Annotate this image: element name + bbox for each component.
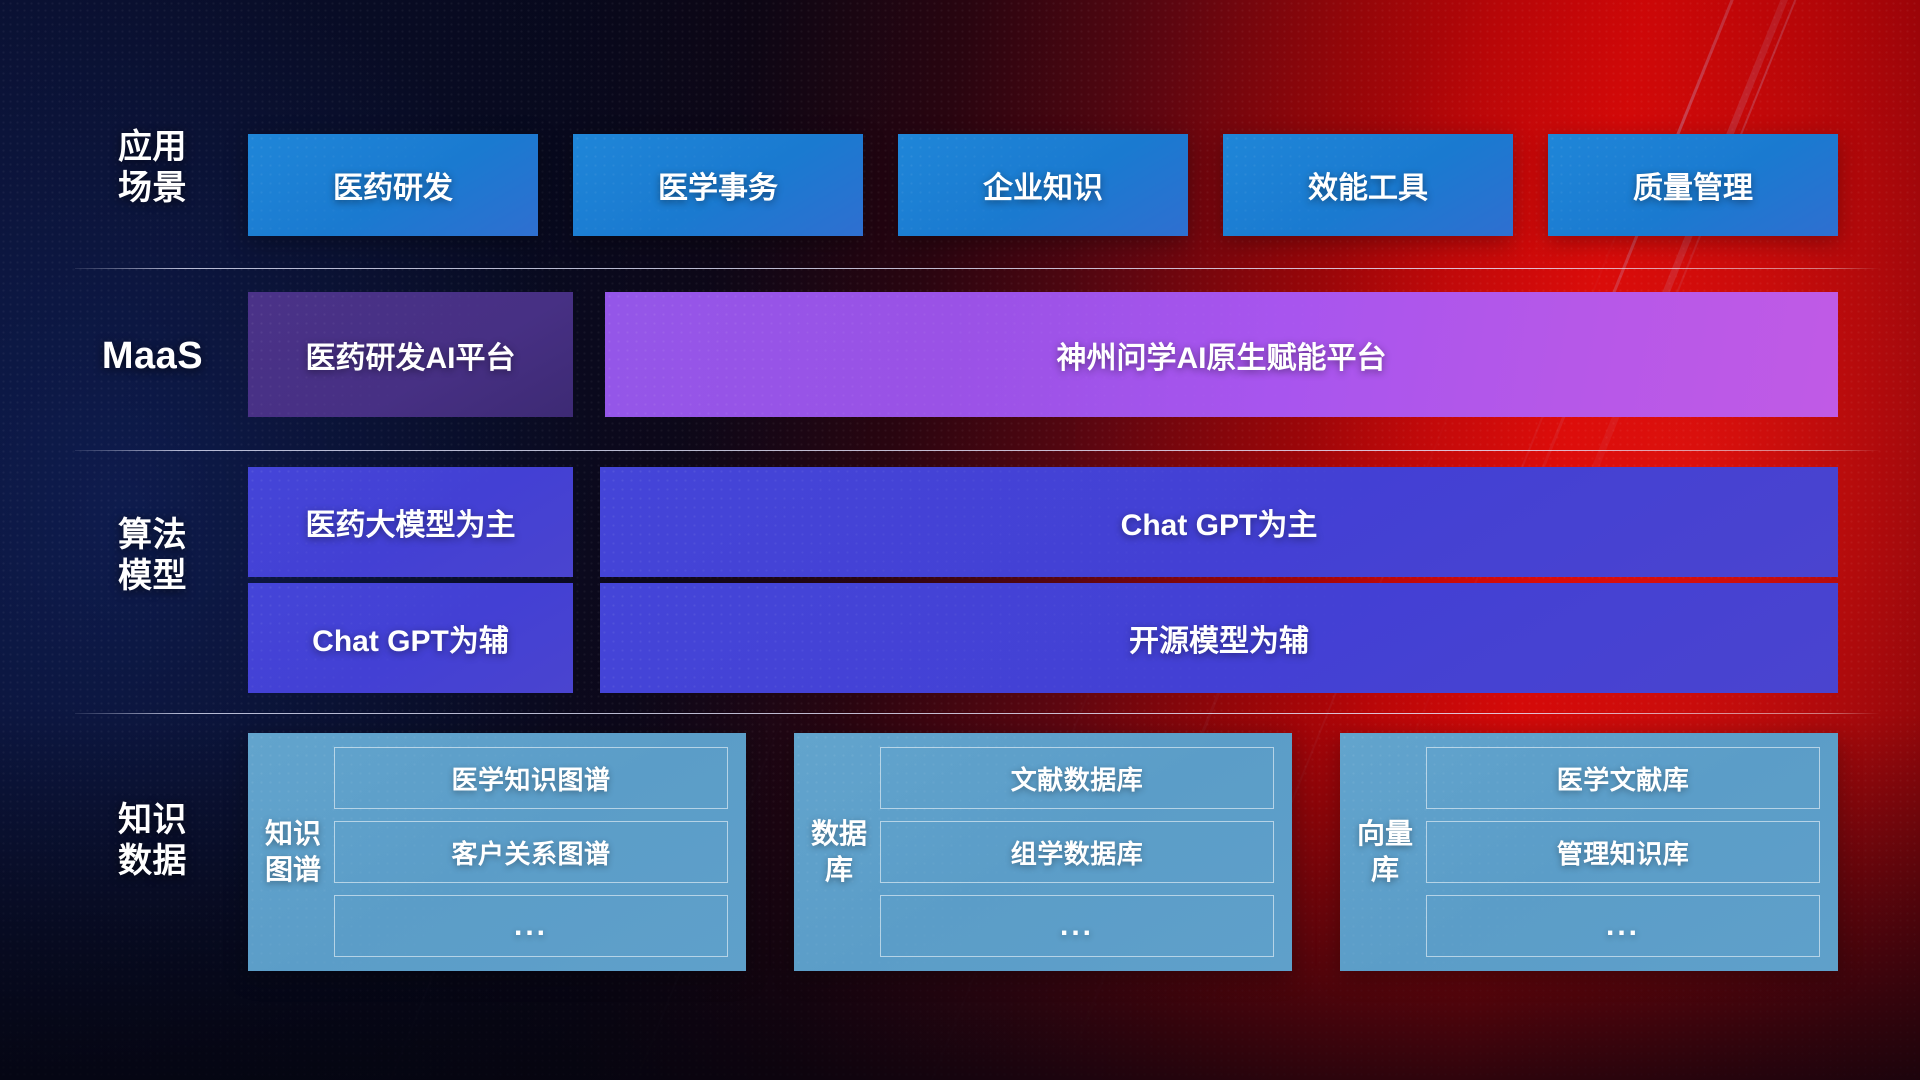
scene-card-label: 效能工具 xyxy=(1308,163,1428,207)
scene-card-label: 企业知识 xyxy=(983,163,1103,207)
knowledge-item-more[interactable]: ... xyxy=(880,895,1274,957)
row-label-application-scenarios: 应用 场景 xyxy=(75,127,230,210)
scene-card-quality-management[interactable]: 质量管理 xyxy=(1548,134,1838,236)
algo-card-chatgpt-primary[interactable]: Chat GPT为主 xyxy=(600,467,1838,577)
scene-card-label: 医药研发 xyxy=(333,163,453,207)
scene-card-label: 质量管理 xyxy=(1633,163,1753,207)
knowledge-group-items: 医学知识图谱 客户关系图谱 ... xyxy=(334,747,728,957)
algo-card-label: Chat GPT为辅 xyxy=(312,616,509,660)
maas-card-pharma-ai-platform[interactable]: 医药研发AI平台 xyxy=(248,292,573,417)
scene-card-efficiency-tools[interactable]: 效能工具 xyxy=(1223,134,1513,236)
algo-card-pharma-large-model-primary[interactable]: 医药大模型为主 xyxy=(248,467,573,577)
knowledge-group-label: 向量库 xyxy=(1354,816,1416,888)
algo-card-label: Chat GPT为主 xyxy=(1121,500,1318,544)
knowledge-group-knowledge-graph[interactable]: 知识图谱 医学知识图谱 客户关系图谱 ... xyxy=(248,733,746,971)
row-divider-3 xyxy=(75,713,1880,714)
knowledge-group-items: 医学文献库 管理知识库 ... xyxy=(1426,747,1820,957)
knowledge-group-label: 数据库 xyxy=(808,816,870,888)
row-divider-2 xyxy=(75,450,1880,451)
scene-card-enterprise-knowledge[interactable]: 企业知识 xyxy=(898,134,1188,236)
knowledge-group-database[interactable]: 数据库 文献数据库 组学数据库 ... xyxy=(794,733,1292,971)
maas-card-label: 医药研发AI平台 xyxy=(306,333,516,377)
maas-card-shenzhou-wenxue-platform[interactable]: 神州问学AI原生赋能平台 xyxy=(605,292,1838,417)
knowledge-group-label: 知识图谱 xyxy=(262,816,324,888)
knowledge-group-vector-store[interactable]: 向量库 医学文献库 管理知识库 ... xyxy=(1340,733,1838,971)
knowledge-item[interactable]: 管理知识库 xyxy=(1426,821,1820,883)
row-label-algorithm-model: 算法 模型 xyxy=(75,515,230,598)
maas-card-label: 神州问学AI原生赋能平台 xyxy=(1057,333,1387,377)
knowledge-item[interactable]: 医学文献库 xyxy=(1426,747,1820,809)
scene-card-medical-affairs[interactable]: 医学事务 xyxy=(573,134,863,236)
knowledge-item[interactable]: 客户关系图谱 xyxy=(334,821,728,883)
algo-card-label: 开源模型为辅 xyxy=(1129,616,1309,660)
knowledge-item[interactable]: 组学数据库 xyxy=(880,821,1274,883)
algo-card-label: 医药大模型为主 xyxy=(306,500,516,544)
knowledge-group-items: 文献数据库 组学数据库 ... xyxy=(880,747,1274,957)
knowledge-item[interactable]: 文献数据库 xyxy=(880,747,1274,809)
scene-card-pharma-rd[interactable]: 医药研发 xyxy=(248,134,538,236)
row-label-knowledge-data: 知识 数据 xyxy=(75,800,230,883)
knowledge-item-more[interactable]: ... xyxy=(334,895,728,957)
knowledge-item[interactable]: 医学知识图谱 xyxy=(334,747,728,809)
algo-card-open-source-secondary[interactable]: 开源模型为辅 xyxy=(600,583,1838,693)
scene-card-label: 医学事务 xyxy=(658,163,778,207)
algo-card-chatgpt-secondary[interactable]: Chat GPT为辅 xyxy=(248,583,573,693)
row-label-maas: MaaS xyxy=(75,333,230,379)
row-divider-1 xyxy=(75,268,1880,269)
knowledge-item-more[interactable]: ... xyxy=(1426,895,1820,957)
